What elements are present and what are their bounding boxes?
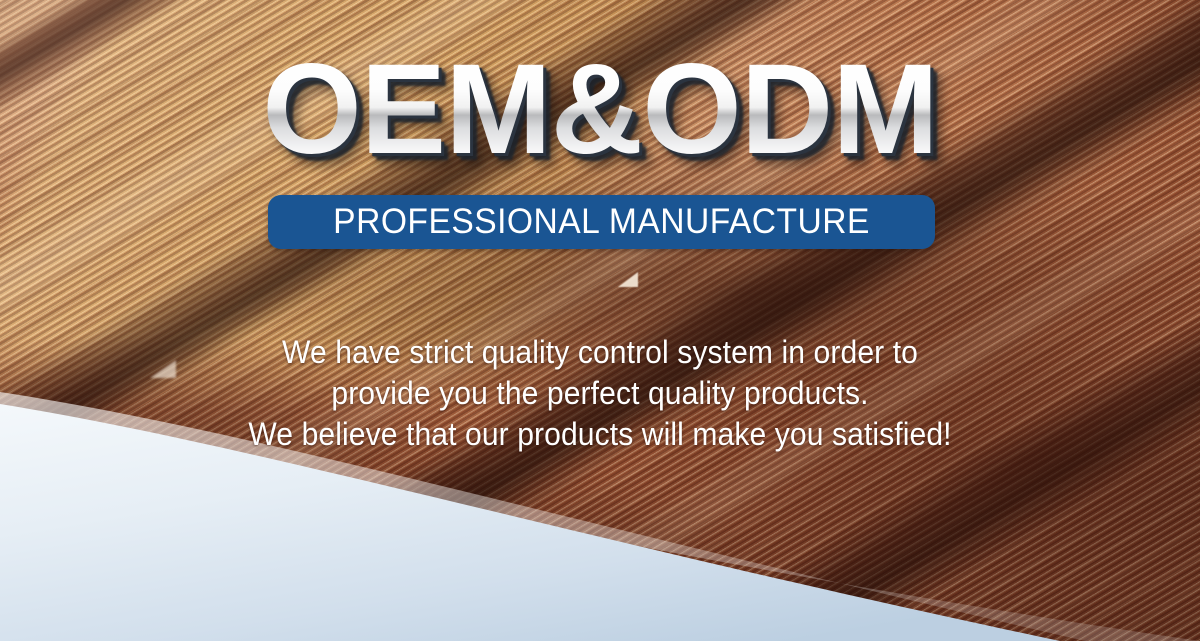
description-line-1: We have strict quality control system in…: [36, 332, 1164, 373]
banner-description: We have strict quality control system in…: [0, 332, 1200, 455]
banner-content: OEM&ODM PROFESSIONAL MANUFACTURE We have…: [0, 0, 1200, 641]
promotional-banner: OEM&ODM PROFESSIONAL MANUFACTURE We have…: [0, 0, 1200, 641]
description-line-3: We believe that our products will make y…: [36, 414, 1164, 455]
description-line-2: provide you the perfect quality products…: [36, 373, 1164, 414]
status-badge: PROFESSIONAL MANUFACTURE: [268, 195, 935, 249]
status-badge-label: PROFESSIONAL MANUFACTURE: [333, 202, 870, 242]
page-title: OEM&ODM: [0, 46, 1200, 174]
